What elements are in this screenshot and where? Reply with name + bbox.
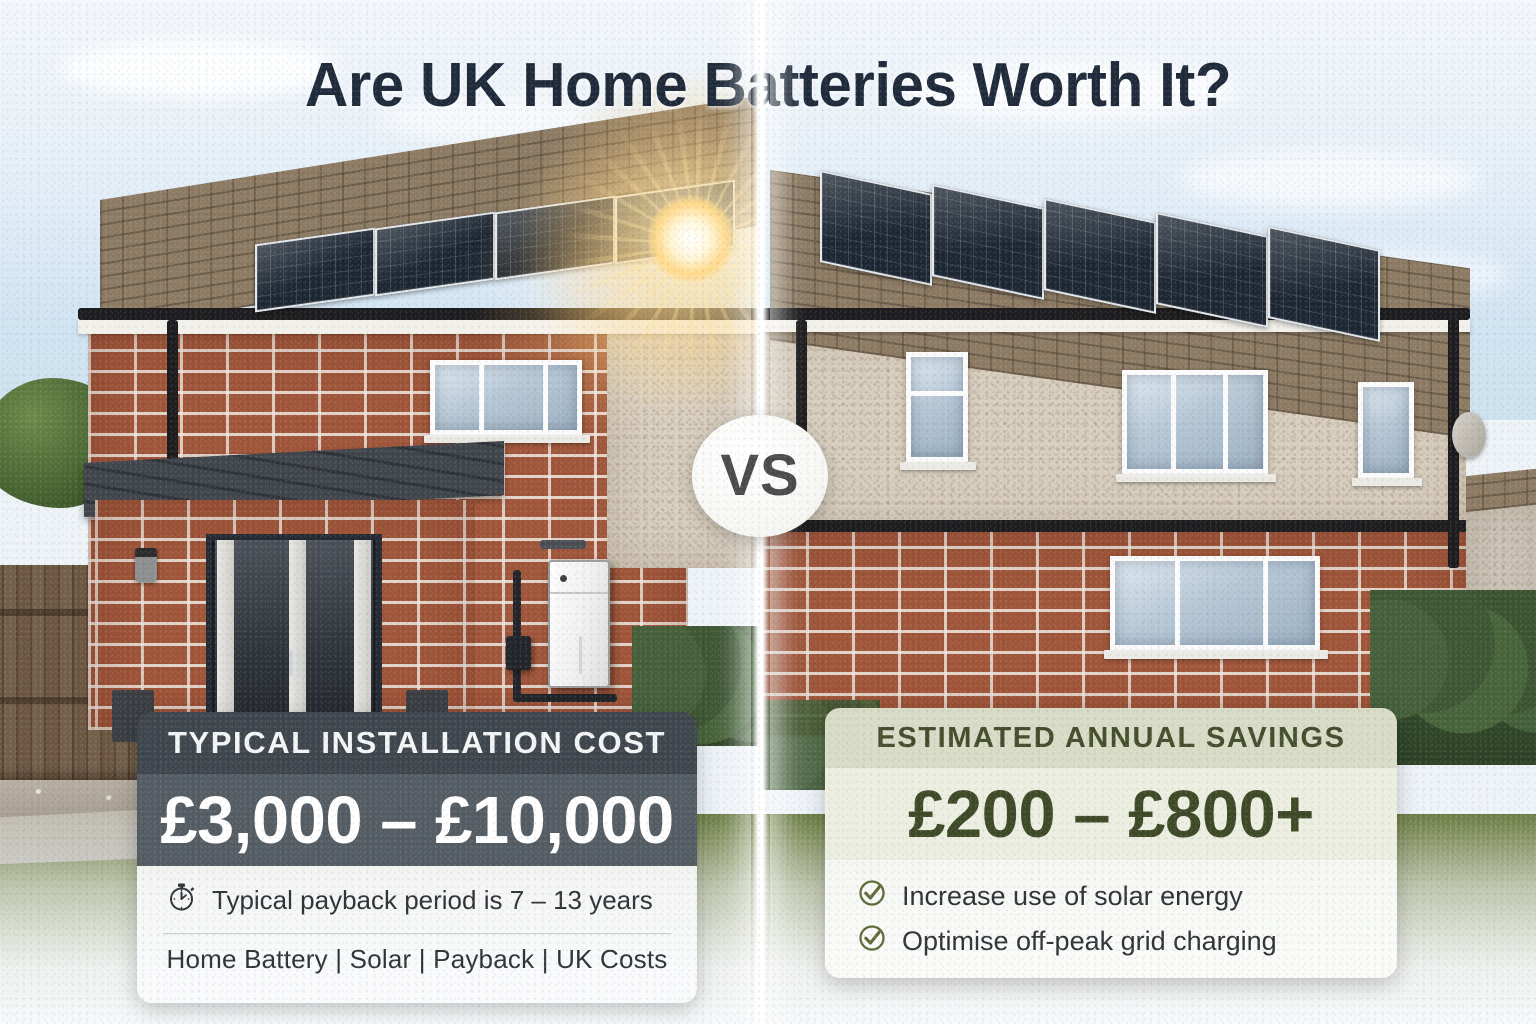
french-doors <box>206 534 382 730</box>
payback-fact-label: Typical payback period is 7 – 13 years <box>212 885 653 916</box>
sun-icon <box>648 196 734 282</box>
window-sill <box>1352 478 1422 486</box>
benefit-row: Optimise off-peak grid charging <box>825 919 1397 964</box>
upstairs-window-wide <box>1122 370 1268 474</box>
installation-cost-header: TYPICAL INSTALLATION COST <box>137 712 697 774</box>
infographic-canvas: VS Are UK Home Batteries Worth It? TYPIC… <box>0 0 1536 1024</box>
benefit-label: Increase use of solar energy <box>902 881 1243 912</box>
home-battery-unit <box>548 560 610 688</box>
vs-badge: VS <box>692 415 828 537</box>
string-course <box>760 520 1466 532</box>
upstairs-window-left <box>430 360 582 435</box>
benefit-label: Optimise off-peak grid charging <box>902 926 1277 957</box>
vs-label: VS <box>720 447 799 505</box>
left-card-tagline: Home Battery | Solar | Payback | UK Cost… <box>137 944 697 991</box>
annual-savings-header: ESTIMATED ANNUAL SAVINGS <box>825 708 1397 768</box>
annual-savings-footer: Increase use of solar energy Optimise of… <box>825 860 1397 978</box>
check-circle-icon <box>857 878 887 915</box>
fascia-board <box>78 318 760 334</box>
cable-conduit <box>513 694 617 702</box>
window-sill <box>1104 650 1328 659</box>
benefit-row: Increase use of solar energy <box>825 874 1397 919</box>
payback-fact-row: Typical payback period is 7 – 13 years <box>137 882 697 933</box>
installation-cost-card: TYPICAL INSTALLATION COST £3,000 – £10,0… <box>137 712 697 1003</box>
topiary-shrub <box>112 640 156 702</box>
satellite-dish-icon <box>1452 412 1486 458</box>
annual-savings-value: £200 – £800+ <box>825 768 1397 860</box>
inverter-box <box>506 636 531 670</box>
door-handle <box>297 650 301 676</box>
card-divider-rule <box>163 933 671 934</box>
door-handle <box>289 650 293 676</box>
window-sill <box>900 462 976 470</box>
installation-cost-footer: Typical payback period is 7 – 13 years H… <box>137 866 697 1003</box>
cable-conduit <box>513 570 521 700</box>
neighbour-roof <box>1460 467 1536 512</box>
annual-savings-card: ESTIMATED ANNUAL SAVINGS £200 – £800+ In… <box>825 708 1397 978</box>
wall-lantern <box>135 548 157 582</box>
topiary-shrub <box>406 640 450 702</box>
upstairs-window-small <box>906 352 968 462</box>
stopwatch-icon <box>167 882 197 919</box>
downstairs-window <box>1110 556 1320 650</box>
window-sill <box>424 435 590 443</box>
upstairs-window-small <box>1358 382 1414 478</box>
meter-box <box>540 540 586 549</box>
check-circle-icon <box>857 923 887 960</box>
gutter <box>78 308 760 320</box>
battery-status-led <box>560 575 567 582</box>
installation-cost-value: £3,000 – £10,000 <box>137 774 697 866</box>
window-sill <box>1116 474 1276 482</box>
